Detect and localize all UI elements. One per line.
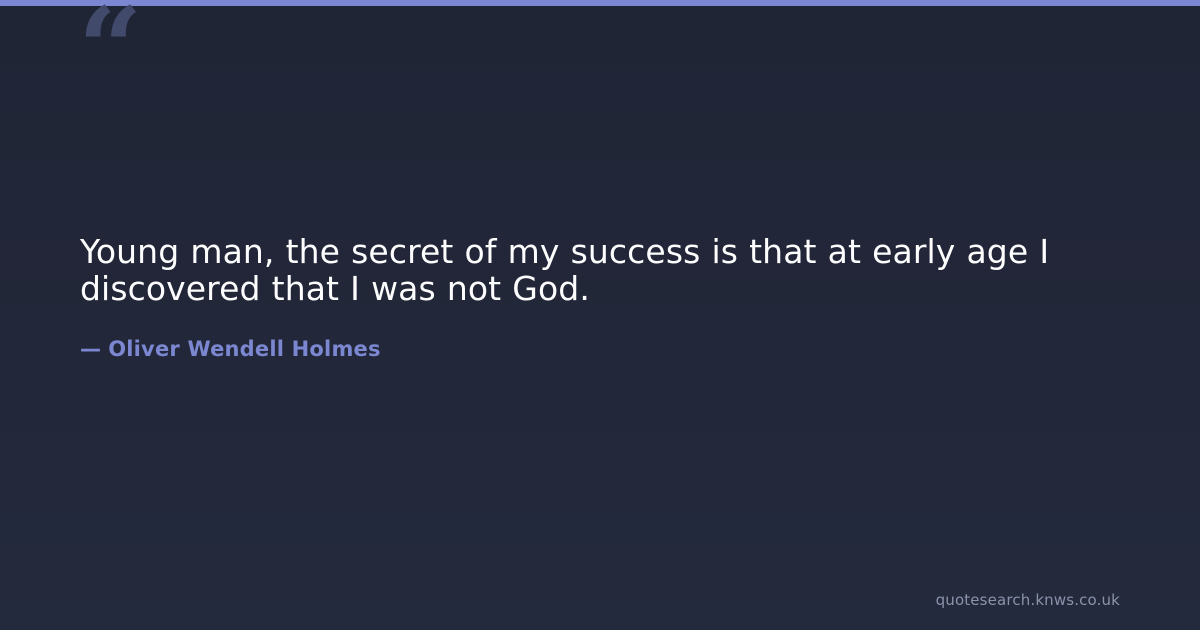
top-accent-bar [0,0,1200,6]
open-quote-icon: “ [78,0,143,106]
quote-card: “ Young man, the secret of my success is… [0,0,1200,630]
attribution-dash: — [80,337,108,361]
quote-text: Young man, the secret of my success is t… [80,234,1124,308]
quote-content: Young man, the secret of my success is t… [80,234,1124,362]
attribution-author: Oliver Wendell Holmes [108,337,380,361]
site-watermark: quotesearch.knws.co.uk [936,593,1120,608]
quote-attribution: —Oliver Wendell Holmes [80,308,1124,362]
